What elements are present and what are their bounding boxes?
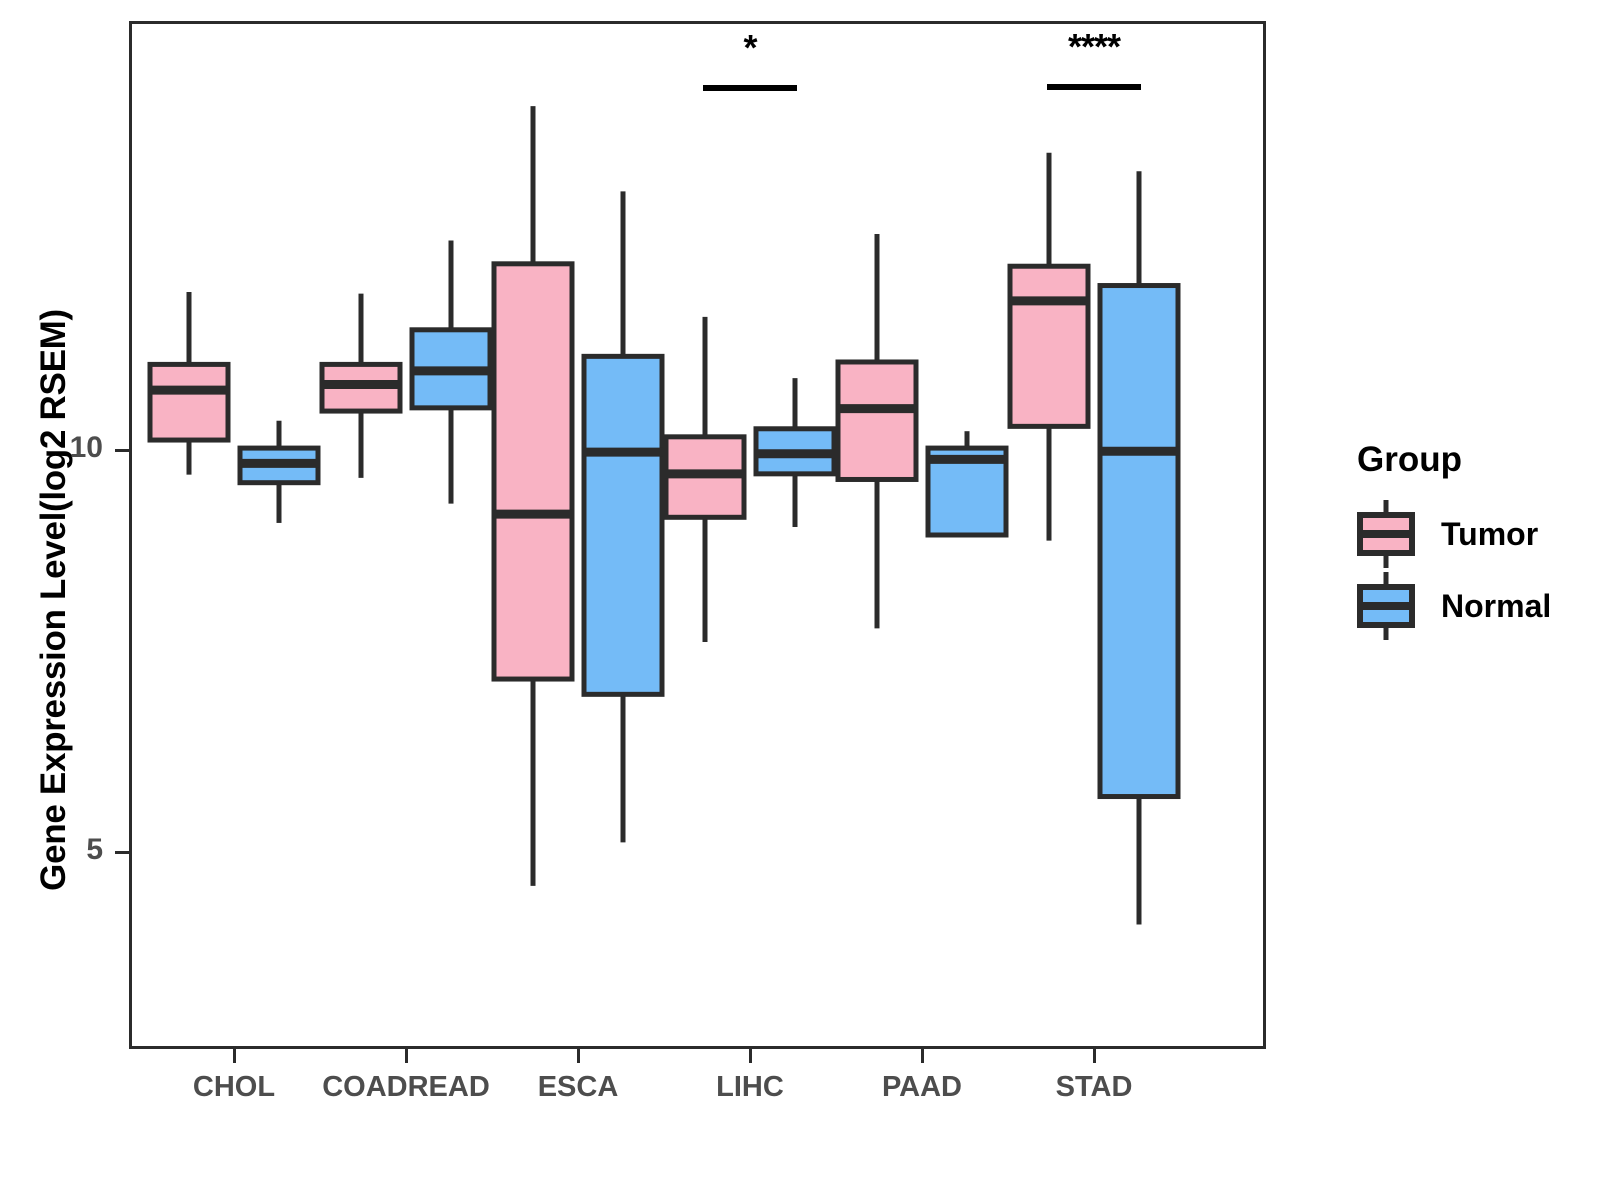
boxplot-box xyxy=(583,191,664,842)
boxplot-box xyxy=(149,292,230,475)
x-tick-label-esca: ESCA xyxy=(538,1071,619,1104)
significance-label: **** xyxy=(1068,29,1120,65)
y-tick-label: 10 xyxy=(33,431,103,465)
legend: Group TumorNormal xyxy=(1325,440,1585,642)
legend-label: Normal xyxy=(1441,588,1551,625)
legend-title: Group xyxy=(1357,440,1585,480)
x-tick-mark xyxy=(749,1049,752,1063)
boxplot-box xyxy=(837,234,918,628)
x-tick-mark xyxy=(921,1049,924,1063)
significance-label: * xyxy=(743,30,756,66)
boxplot-box xyxy=(239,421,320,523)
boxplot-box xyxy=(1009,153,1090,541)
x-tick-label-paad: PAAD xyxy=(882,1071,962,1104)
x-tick-mark xyxy=(233,1049,236,1063)
plot-panel xyxy=(129,21,1266,1049)
y-axis-title: Gene Expression Level(log2 RSEM) xyxy=(22,0,86,1200)
x-tick-mark xyxy=(577,1049,580,1063)
boxplot-box xyxy=(411,240,492,503)
boxplot-figure: Gene Expression Level(log2 RSEM) 510 CHO… xyxy=(0,0,1600,1200)
x-tick-label-chol: CHOL xyxy=(193,1071,275,1104)
x-tick-mark xyxy=(405,1049,408,1063)
boxplot-canvas xyxy=(132,24,1263,1046)
y-tick-label: 5 xyxy=(33,833,103,867)
significance-bar xyxy=(1047,84,1141,90)
x-tick-label-coadread: COADREAD xyxy=(322,1071,490,1104)
x-tick-label-stad: STAD xyxy=(1056,1071,1133,1104)
legend-item-tumor[interactable]: Tumor xyxy=(1357,498,1585,570)
boxplot-box xyxy=(1099,171,1180,924)
boxplot-box xyxy=(755,378,836,527)
boxplot-box xyxy=(321,294,402,478)
boxplot-box xyxy=(493,106,574,886)
legend-item-normal[interactable]: Normal xyxy=(1357,570,1585,642)
legend-rows: TumorNormal xyxy=(1325,498,1585,642)
legend-label: Tumor xyxy=(1441,516,1538,553)
x-tick-mark xyxy=(1093,1049,1096,1063)
x-tick-label-lihc: LIHC xyxy=(716,1071,784,1104)
legend-key-icon xyxy=(1357,570,1415,642)
y-tick-mark xyxy=(115,449,129,452)
boxplot-box xyxy=(927,431,1008,535)
boxplot-box xyxy=(665,317,746,642)
significance-bar xyxy=(703,85,797,91)
legend-key-icon xyxy=(1357,498,1415,570)
y-tick-mark xyxy=(115,851,129,854)
